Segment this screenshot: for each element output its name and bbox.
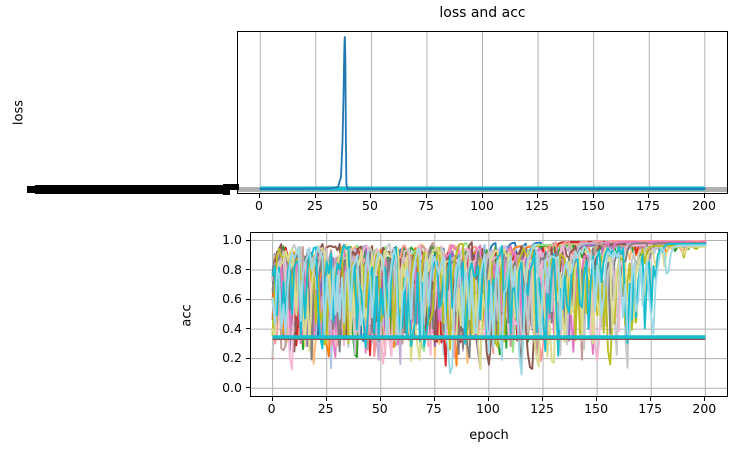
loss-xticklabel-50: 50 [362, 199, 378, 213]
loss-xtick-mark-75 [426, 194, 427, 198]
acc-ytick-mark-1.0 [246, 240, 250, 241]
acc-xticklabel-200: 200 [692, 402, 716, 416]
loss-plot-canvas [238, 32, 727, 193]
acc-yaxis-label: acc [180, 292, 195, 340]
acc-ytick-mark-0.2 [246, 358, 250, 359]
loss-xtick-mark-175 [648, 194, 649, 198]
acc-xaxis-label: epoch [250, 428, 728, 443]
loss-xtick-mark-125 [537, 194, 538, 198]
acc-plot-canvas [251, 233, 727, 396]
loss-yaxis-label: loss [12, 89, 27, 137]
acc-yticklabel-0.2: 0.2 [205, 351, 242, 365]
acc-xticklabel-125: 125 [530, 402, 554, 416]
acc-xticklabel-150: 150 [584, 402, 608, 416]
loss-xticklabel-25: 25 [307, 199, 323, 213]
loss-axes [237, 31, 728, 194]
loss-xtick-mark-150 [593, 194, 594, 198]
acc-yticklabel-0.0: 0.0 [205, 381, 242, 395]
acc-ytick-mark-0.0 [246, 387, 250, 388]
loss-xtick-mark-0 [259, 194, 260, 198]
loss-xticklabel-125: 125 [525, 199, 549, 213]
loss-xticklabel-200: 200 [692, 199, 716, 213]
acc-yticklabel-0.4: 0.4 [205, 322, 242, 336]
acc-yticklabel-0.6: 0.6 [205, 292, 242, 306]
acc-xtick-mark-50 [380, 397, 381, 401]
loss-xticklabel-175: 175 [636, 199, 660, 213]
loss-xticklabel-150: 150 [581, 199, 605, 213]
loss-xtick-mark-50 [370, 194, 371, 198]
acc-xticklabel-100: 100 [476, 402, 500, 416]
acc-xtick-mark-150 [596, 397, 597, 401]
loss-xtick-mark-100 [482, 194, 483, 198]
acc-yticklabel-0.8: 0.8 [205, 263, 242, 277]
loss-xtick-mark-200 [704, 194, 705, 198]
acc-xtick-mark-25 [326, 397, 327, 401]
loss-xticklabel-75: 75 [418, 199, 434, 213]
acc-xtick-mark-0 [272, 397, 273, 401]
acc-axes [250, 232, 728, 397]
acc-xtick-mark-75 [434, 397, 435, 401]
loss-xtick-mark-25 [315, 194, 316, 198]
loss-xticklabel-0: 0 [255, 199, 263, 213]
acc-xtick-mark-100 [488, 397, 489, 401]
acc-ytick-mark-0.8 [246, 269, 250, 270]
acc-xticklabel-50: 50 [372, 402, 388, 416]
acc-xtick-mark-175 [650, 397, 651, 401]
loss-gridlines-x [260, 32, 705, 193]
loss-yticklabel-overlap-band: 0.00.51.01.52.02.53.03.54.0 [27, 183, 230, 196]
figure-title: loss and acc [237, 4, 728, 22]
acc-xticklabel-0: 0 [268, 402, 276, 416]
loss-ytick-mark-cluster [230, 184, 239, 190]
loss-xticklabel-100: 100 [470, 199, 494, 213]
acc-xtick-mark-125 [542, 397, 543, 401]
acc-xticklabel-75: 75 [426, 402, 442, 416]
acc-noisy-series-group [273, 241, 706, 375]
acc-xticklabel-175: 175 [638, 402, 662, 416]
acc-xtick-mark-200 [704, 397, 705, 401]
matplotlib-figure: loss and acc [0, 0, 742, 455]
acc-xticklabel-25: 25 [318, 402, 334, 416]
acc-ytick-mark-0.4 [246, 328, 250, 329]
acc-yticklabel-1.0: 1.0 [205, 233, 242, 247]
acc-ytick-mark-0.6 [246, 299, 250, 300]
